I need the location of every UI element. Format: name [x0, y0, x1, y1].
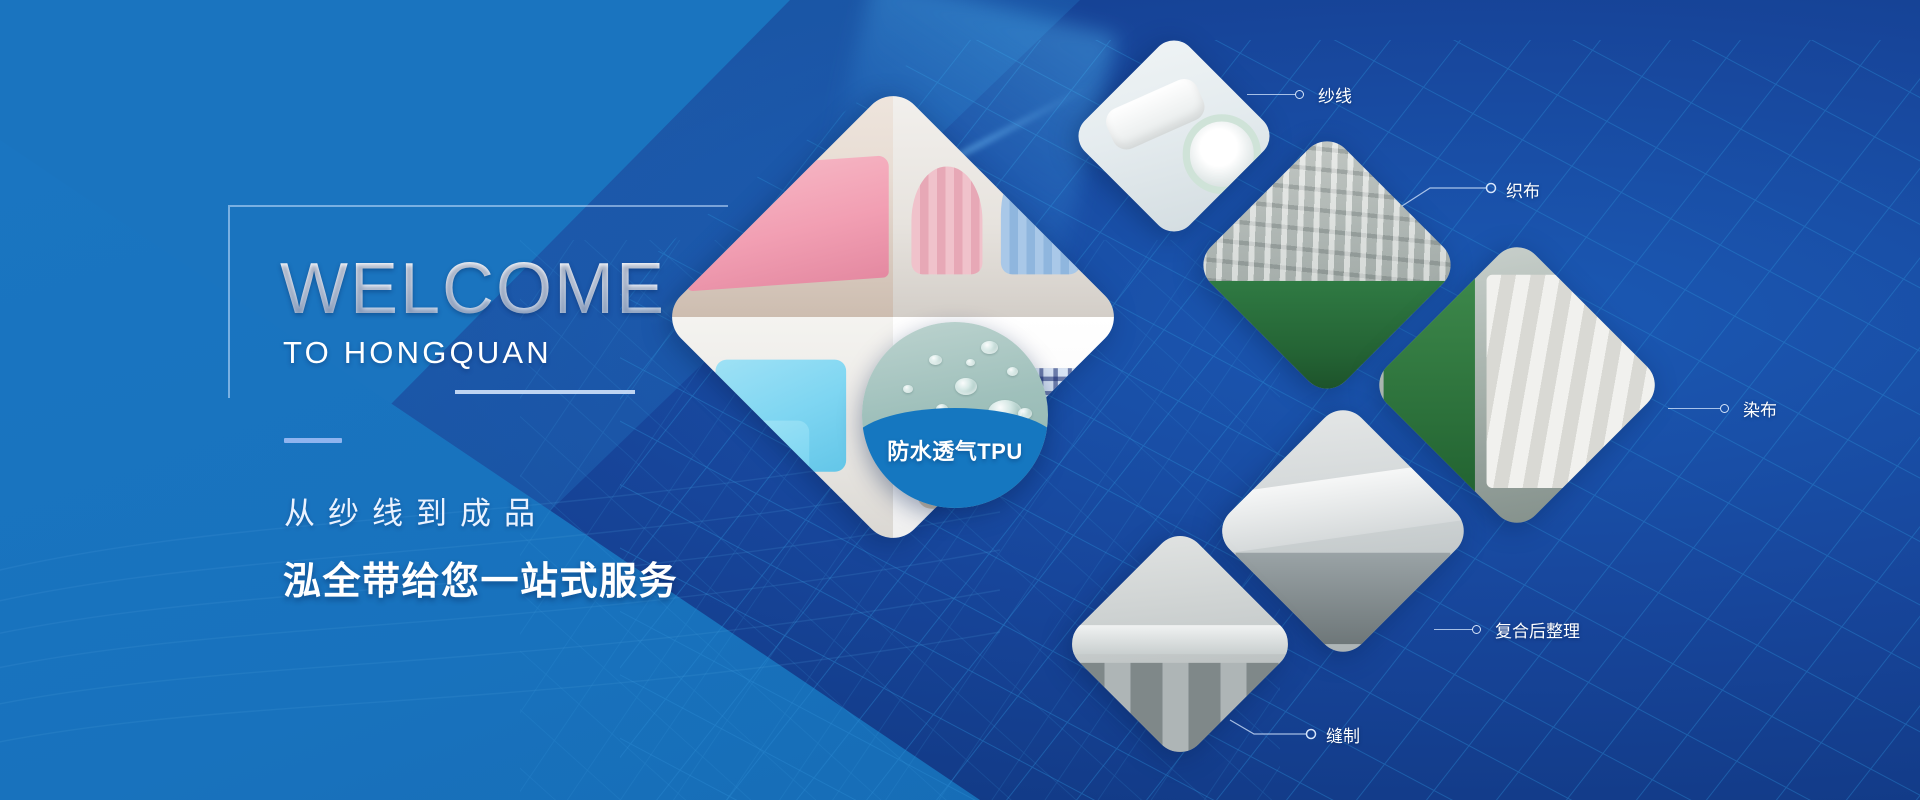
hero-banner: WELCOME TO HONGQUAN 从纱线到成品 泓全带给您一站式服务 — [0, 0, 1920, 800]
status-badge: 防水透气TPU — [862, 322, 1048, 508]
callout-label: 织布 — [1506, 177, 1540, 202]
callout-dot-icon — [1295, 90, 1304, 99]
callout-dot-icon — [1720, 404, 1729, 413]
callout-dyeing: 染布 — [1668, 396, 1777, 421]
callout-sewing: 缝制 — [1228, 712, 1378, 752]
callout-label: 纱线 — [1318, 82, 1352, 107]
callout-yarn: 纱线 — [1247, 82, 1352, 107]
page-subtitle: TO HONGQUAN — [283, 335, 552, 371]
callout-connector-line — [1668, 408, 1720, 409]
callout-lamination: 复合后整理 — [1434, 617, 1580, 642]
callout-connector-line — [1434, 629, 1472, 630]
callout-label: 染布 — [1743, 396, 1777, 421]
bottom-divider — [455, 390, 635, 394]
callout-label: 复合后整理 — [1495, 617, 1580, 642]
callout-label: 缝制 — [1326, 722, 1360, 747]
callout-dot-icon — [1472, 625, 1481, 634]
callout-weaving: 织布 — [1400, 160, 1530, 208]
tagline-chinese: 从纱线到成品 — [284, 488, 548, 533]
callout-connector-line — [1247, 94, 1295, 95]
badge-label: 防水透气TPU — [862, 434, 1048, 466]
accent-divider — [284, 438, 342, 443]
headline-chinese: 泓全带给您一站式服务 — [283, 550, 678, 605]
page-title: WELCOME — [280, 253, 666, 325]
